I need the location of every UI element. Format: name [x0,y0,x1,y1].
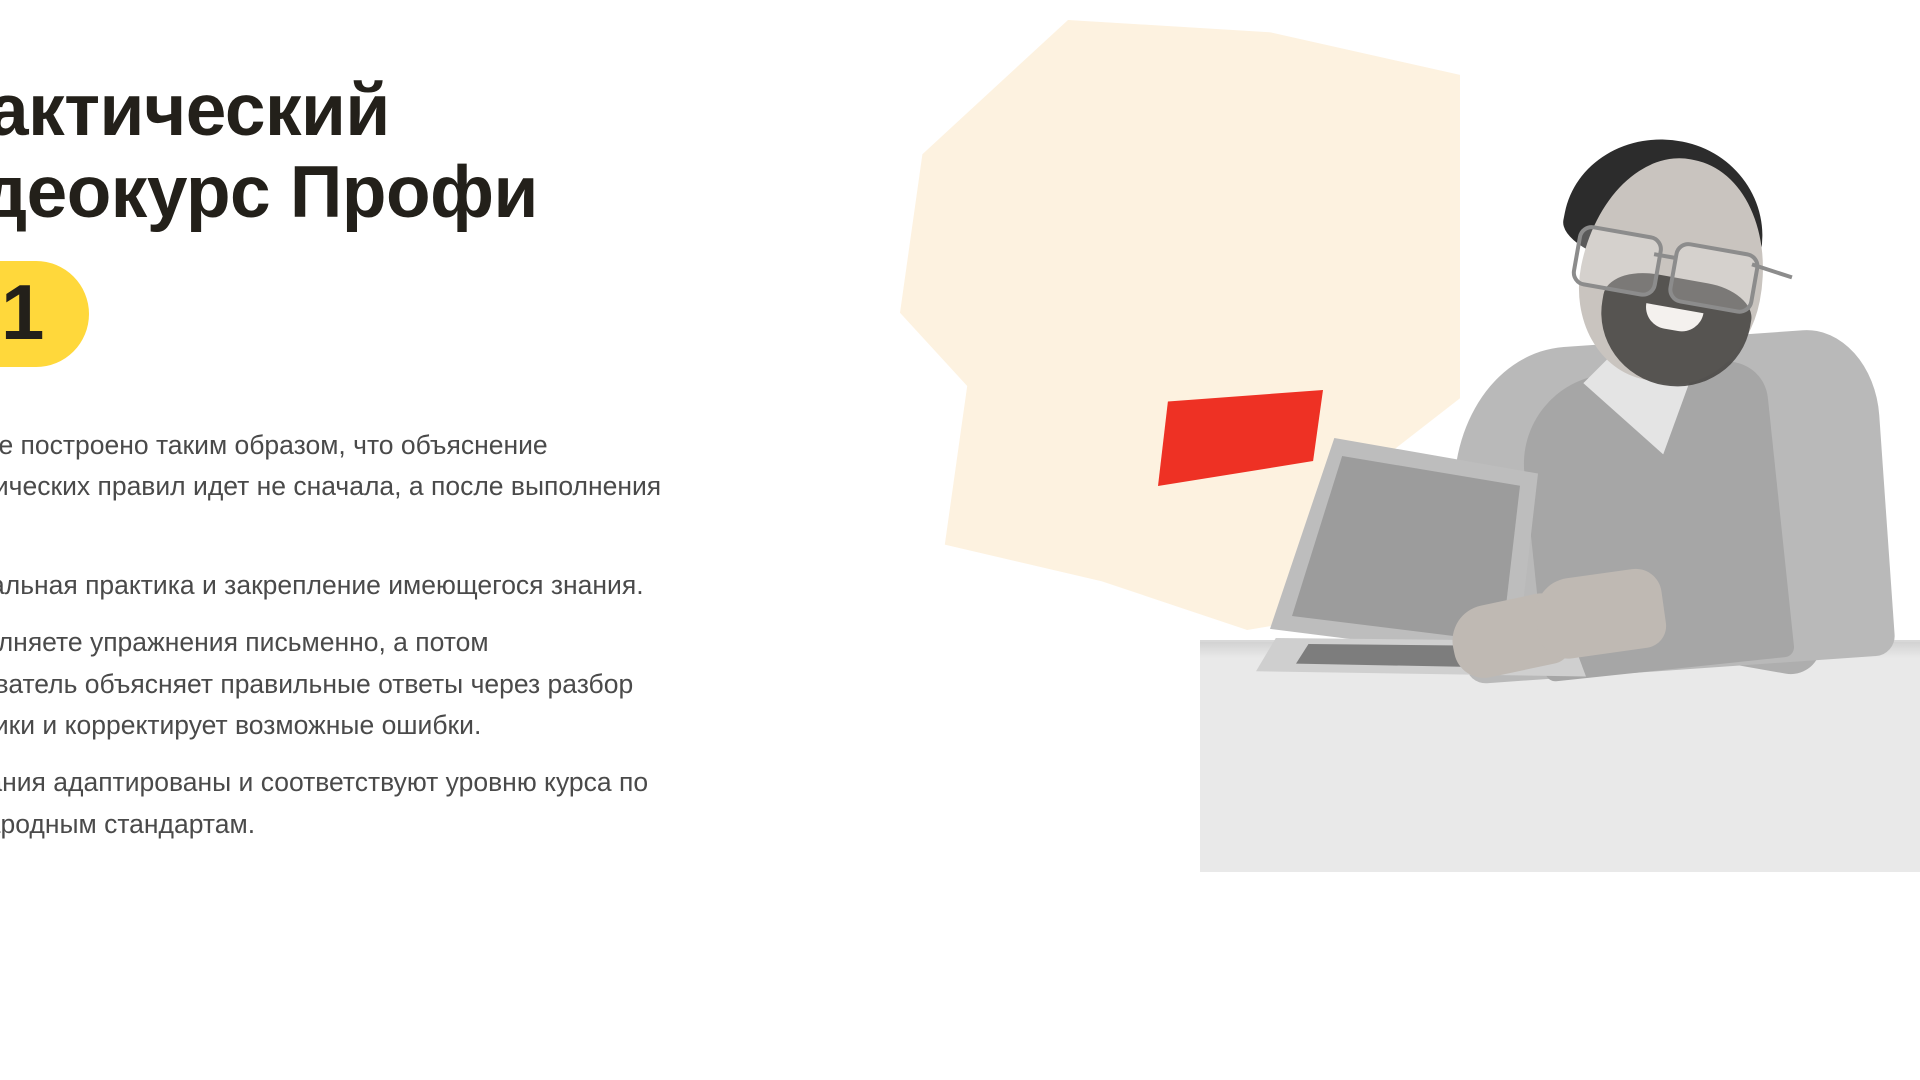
hero-paragraph-1: Обучение построено таким образом, что об… [0,425,662,549]
page-title: Практический видеокурс Профи [0,70,772,235]
hero-text-column: Практический видеокурс Профи 2.1 Обучени… [0,70,772,849]
course-level-badge: 2.1 [0,261,89,367]
hero-paragraph-3: Вы выполняете упражнения письменно, а по… [0,622,662,746]
hero-section: Практический видеокурс Профи 2.1 Обучени… [0,0,1920,1080]
hero-image-collage [900,0,1920,1080]
hero-paragraph-2: Это идеальная практика и закрепление име… [0,565,662,606]
hero-description: Обучение построено таким образом, что об… [0,425,662,845]
hero-paragraph-4: Все задания адаптированы и соответствуют… [0,762,662,845]
student-photo [1200,40,1920,820]
